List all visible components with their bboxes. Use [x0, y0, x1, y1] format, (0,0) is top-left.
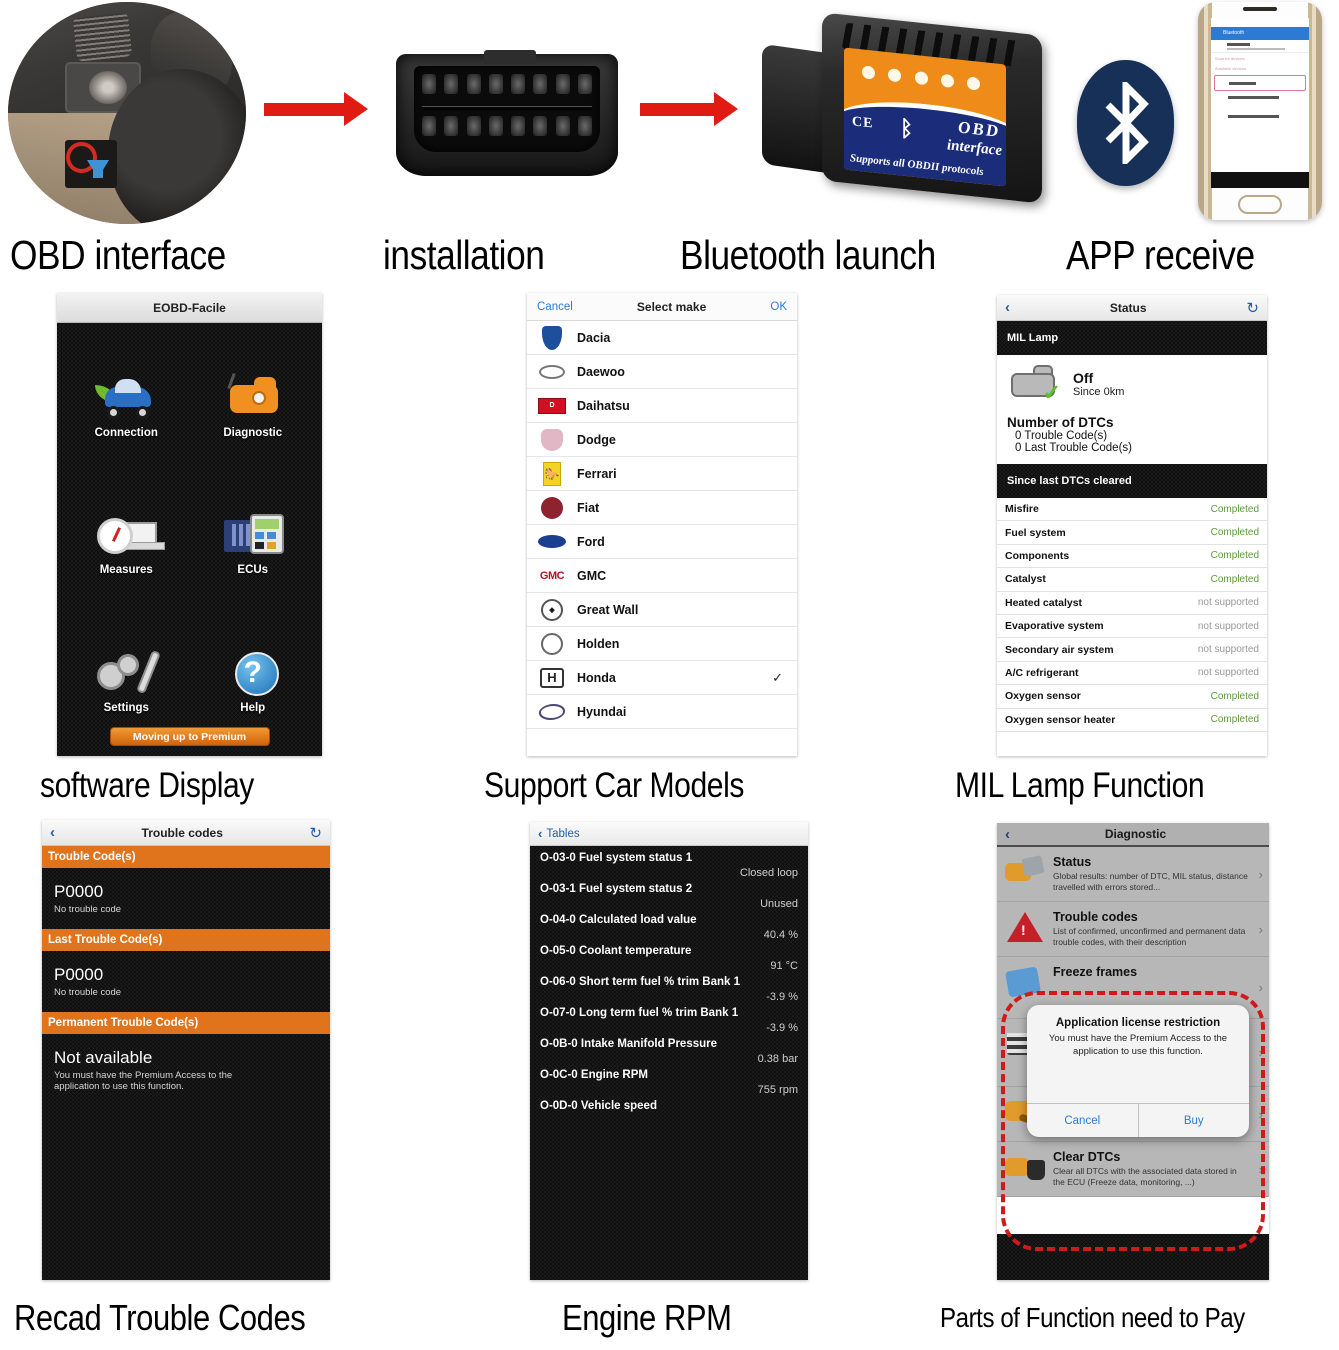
trouble-sub: You must have the Premium Access to the …	[54, 1070, 266, 1092]
back-label[interactable]: Tables	[546, 828, 579, 840]
air-vent	[72, 13, 131, 63]
mil-row: ✓ Off Since 0km	[1007, 363, 1257, 405]
make-name: Dacia	[577, 331, 610, 345]
dodge-logo-icon	[537, 427, 567, 453]
diagnostic-list: StatusGlobal results: number of DTC, MIL…	[997, 847, 1269, 1197]
table-row: Heated catalystnot supported	[997, 592, 1267, 615]
monitor-name: Heated catalyst	[1005, 597, 1082, 609]
pin	[489, 116, 503, 136]
make-name: Honda	[577, 671, 616, 685]
list-item-great-wall[interactable]: ◈Great Wall	[527, 593, 797, 627]
phone-scan-label: Scan for devices	[1211, 53, 1309, 63]
tile-ecus[interactable]: ECUs	[190, 475, 317, 613]
page-title: Select make	[573, 300, 771, 314]
caption-bluetooth-launch: Bluetooth launch	[680, 232, 936, 279]
pin	[467, 116, 481, 136]
gauge-laptop-icon	[95, 510, 157, 560]
pid-value: -3.9 %	[540, 1022, 798, 1034]
pin	[578, 74, 592, 94]
select-make-screenshot: Cancel Select make OK Dacia Daewoo DDaih…	[527, 293, 797, 756]
mil-lamp-block: ✓ Off Since 0km Number of DTCs 0 Trouble…	[997, 355, 1267, 464]
monitor-state: Completed	[1211, 504, 1259, 515]
caption-software-display: software Display	[40, 766, 254, 806]
line	[1228, 115, 1279, 118]
make-name: Great Wall	[577, 603, 638, 617]
led	[862, 65, 875, 79]
arrow-2-icon	[640, 103, 716, 116]
elm327-device-photo: CE ᛒ OBD interface Supports all OBDII pr…	[760, 10, 1048, 200]
line	[1227, 48, 1285, 50]
ford-logo-icon	[537, 529, 567, 555]
list-item-ferrari[interactable]: 🐎Ferrari	[527, 457, 797, 491]
pin	[489, 74, 503, 94]
list-item-ford[interactable]: Ford	[527, 525, 797, 559]
tile-label: Diagnostic	[223, 427, 282, 439]
arrow-1-icon	[264, 103, 346, 116]
tile-diagnostic[interactable]: Diagnostic	[190, 337, 317, 475]
cancel-button[interactable]: Cancel	[537, 301, 573, 313]
bluetooth-logo-icon	[1077, 60, 1174, 186]
monitor-state: Completed	[1211, 691, 1259, 702]
table-row: Oxygen sensor heaterCompleted	[997, 709, 1267, 732]
section-since-cleared: Since last DTCs cleared	[997, 464, 1267, 498]
table-row: O-03-0 Fuel system status 1Closed loop	[540, 852, 798, 879]
tile-label: Settings	[104, 702, 149, 714]
dacia-logo-icon	[537, 325, 567, 351]
table-row: O-05-0 Coolant temperature91 °C	[540, 945, 798, 972]
monitor-state: Completed	[1211, 550, 1259, 561]
monitor-name: Catalyst	[1005, 573, 1046, 585]
pin	[511, 116, 525, 136]
phone-available-label: Available devices	[1211, 63, 1309, 73]
pin	[422, 116, 436, 136]
pin	[422, 74, 436, 94]
caption-recad-trouble-codes: Recad Trouble Codes	[14, 1297, 305, 1339]
line	[1227, 43, 1250, 46]
great-wall-logo-icon: ◈	[537, 597, 567, 623]
status-icon	[1005, 855, 1045, 889]
table-row: CatalystCompleted	[997, 568, 1267, 591]
led	[941, 74, 954, 88]
caption-engine-rpm: Engine RPM	[562, 1297, 732, 1339]
caption-obd-interface: OBD interface	[10, 232, 226, 279]
tables-list: O-03-0 Fuel system status 1Closed loop O…	[530, 846, 808, 1280]
status-screenshot: ‹ Status ↻ MIL Lamp ✓ Off Since 0km Numb…	[997, 295, 1267, 756]
list-item-dodge[interactable]: Dodge	[527, 423, 797, 457]
ce-mark-label: CE	[852, 114, 873, 132]
pid-label: O-0D-0 Vehicle speed	[540, 1100, 798, 1112]
app-title: EOBD-Facile	[57, 293, 322, 323]
trouble-sub: No trouble code	[54, 904, 318, 915]
monitor-name: Components	[1005, 550, 1069, 562]
refresh-icon[interactable]: ↻	[1246, 299, 1259, 317]
list-item-dacia[interactable]: Dacia	[527, 321, 797, 355]
make-name: Holden	[577, 637, 619, 651]
table-row: ComponentsCompleted	[997, 545, 1267, 568]
phone-speaker	[1243, 7, 1277, 11]
diag-item-freeze-frames[interactable]: Freeze frames ›	[997, 957, 1269, 1019]
section-header-last-trouble-codes: Last Trouble Code(s)	[42, 929, 330, 951]
pid-value: 91 °C	[540, 960, 798, 972]
diagnostic-navbar: ‹ Diagnostic	[997, 823, 1269, 847]
phone-device-obd-highlight	[1214, 75, 1306, 91]
fiat-logo-icon	[537, 495, 567, 521]
gear-wrench-icon	[95, 648, 157, 698]
monitor-name: Oxygen sensor heater	[1005, 714, 1115, 726]
daewoo-logo-icon	[537, 359, 567, 385]
led	[915, 71, 928, 85]
table-row: A/C refrigerantnot supported	[997, 662, 1267, 685]
tile-measures[interactable]: Measures	[63, 475, 190, 613]
ecu-calculator-icon	[222, 510, 284, 560]
light-knob	[89, 71, 127, 104]
item-desc: Clear all DTCs with the associated data …	[1053, 1166, 1251, 1188]
page-title: Status	[1010, 301, 1246, 315]
section-header-trouble-codes: Trouble Code(s)	[42, 846, 330, 868]
obd-connector-photo	[388, 40, 626, 190]
trouble-block: Not available You must have the Premium …	[42, 1034, 330, 1106]
monitor-list: MisfireCompleted Fuel systemCompleted Co…	[997, 498, 1267, 732]
monitor-state: not supported	[1198, 667, 1259, 678]
monitor-state: not supported	[1198, 644, 1259, 655]
make-name: Daewoo	[577, 365, 625, 379]
pid-label: O-03-1 Fuel system status 2	[540, 883, 798, 895]
page-title: Trouble codes	[55, 826, 309, 840]
tile-label: Connection	[95, 427, 158, 439]
table-row: O-0C-0 Engine RPM755 rpm	[540, 1069, 798, 1096]
table-row: Oxygen sensorCompleted	[997, 685, 1267, 708]
list-item-daihatsu[interactable]: DDaihatsu	[527, 389, 797, 423]
phone-navbar	[1211, 172, 1309, 188]
tile-label: Measures	[100, 564, 153, 576]
item-title: Systems	[1053, 1095, 1251, 1109]
table-row: O-07-0 Long term fuel % trim Bank 1-3.9 …	[540, 1007, 798, 1034]
phone-device-row	[1214, 115, 1306, 129]
table-row: Evaporative systemnot supported	[997, 615, 1267, 638]
selected-checkmark-icon: ✓	[772, 670, 783, 686]
table-row: Secondary air systemnot supported	[997, 638, 1267, 661]
list-item-hyundai[interactable]: Hyundai	[527, 695, 797, 729]
honda-logo-icon: H	[537, 665, 567, 691]
make-navbar: Cancel Select make OK	[527, 293, 797, 321]
chevron-right-icon: ›	[1259, 980, 1263, 995]
product-infographic: CE ᛒ OBD interface Supports all OBDII pr…	[0, 0, 1339, 1350]
monitor-state: not supported	[1198, 597, 1259, 608]
make-name: Ferrari	[577, 467, 617, 481]
pin	[467, 74, 481, 94]
monitor-name: Secondary air system	[1005, 644, 1114, 656]
table-row: O-0B-0 Intake Manifold Pressure0.38 bar	[540, 1038, 798, 1065]
dtc-heading: Number of DTCs	[1007, 415, 1257, 430]
chevron-right-icon: ›	[1259, 1107, 1263, 1122]
line	[1229, 82, 1256, 85]
pid-label: O-03-0 Fuel system status 1	[540, 852, 798, 864]
chevron-right-icon: ›	[1259, 1162, 1263, 1177]
list-item-daewoo[interactable]: Daewoo	[527, 355, 797, 389]
bluetooth-appbar-title: Bluetooth	[1211, 27, 1309, 36]
monitor-name: Evaporative system	[1005, 620, 1104, 632]
clear-dtc-icon	[1005, 1150, 1045, 1184]
trouble-body: Trouble Code(s) P0000 No trouble code La…	[42, 846, 330, 1280]
trouble-sub: No trouble code	[54, 987, 318, 998]
caption-installation: installation	[383, 232, 544, 279]
tables-navbar: ‹ Tables	[530, 822, 808, 846]
item-desc: List of confirmed, unconfirmed and perma…	[1053, 926, 1251, 948]
smartphone-photo: Bluetooth Scan for devices Available dev…	[1198, 2, 1322, 220]
trouble-block: P0000 No trouble code	[42, 951, 330, 1012]
pid-value: 40.4 %	[540, 929, 798, 941]
bluetooth-appbar: Bluetooth	[1211, 27, 1309, 40]
item-title: Status	[1053, 855, 1251, 869]
caption-app-receive: APP receive	[1066, 232, 1255, 279]
device-label: CE ᛒ OBD interface Supports all OBDII pr…	[844, 47, 1006, 186]
item-title: Trouble codes	[1053, 910, 1251, 924]
list-item-gmc[interactable]: GMCGMC	[527, 559, 797, 593]
make-name: GMC	[577, 569, 606, 583]
caption-parts-of-function: Parts of Function need to Pay	[940, 1302, 1245, 1334]
mil-state: Off	[1073, 370, 1124, 386]
pin	[556, 116, 570, 136]
diag-item-trouble-codes[interactable]: ! Trouble codesList of confirmed, unconf…	[997, 902, 1269, 957]
led-row	[862, 65, 980, 90]
diagnostic-screenshot: ‹ Diagnostic StatusGlobal results: numbe…	[997, 823, 1269, 1280]
item-title: Clear DTCs	[1053, 1150, 1251, 1164]
item-desc: Global results: number of DTC, MIL statu…	[1053, 871, 1251, 893]
pin	[533, 116, 547, 136]
obd-port-photo	[8, 2, 246, 224]
connector-tab	[484, 50, 536, 64]
trouble-block: P0000 No trouble code	[42, 868, 330, 929]
trouble-code: P0000	[54, 965, 318, 985]
freeze-frame-icon	[1005, 965, 1045, 999]
pid-value: 0.38 bar	[540, 1053, 798, 1065]
gmc-logo-icon: GMC	[537, 563, 567, 589]
pin	[444, 74, 458, 94]
diag-item-measures[interactable]: ›	[997, 1019, 1269, 1087]
trouble-code: P0000	[54, 882, 318, 902]
car-icon	[95, 373, 157, 423]
monitor-state: Completed	[1211, 527, 1259, 538]
phone-row-device-name	[1211, 40, 1309, 53]
monitor-name: Fuel system	[1005, 527, 1066, 539]
pid-value: 755 rpm	[540, 1084, 798, 1096]
systems-icon	[1005, 1095, 1045, 1129]
engine-lamp-icon: ✓	[1007, 363, 1063, 405]
premium-button[interactable]: Moving up to Premium	[110, 727, 270, 746]
table-row: O-06-0 Short term fuel % trim Bank 1-3.9…	[540, 976, 798, 1003]
list-item-honda[interactable]: HHonda✓	[527, 661, 797, 695]
trouble-code: Not available	[54, 1048, 318, 1068]
holden-logo-icon	[537, 631, 567, 657]
make-name: Fiat	[577, 501, 599, 515]
monitor-state: Completed	[1211, 574, 1259, 585]
phone-home-button	[1238, 195, 1282, 214]
warning-triangle-icon: !	[1005, 910, 1045, 944]
hyundai-logo-icon	[537, 699, 567, 725]
refresh-icon[interactable]: ↻	[309, 824, 322, 842]
blue-arrow-icon	[87, 160, 109, 178]
tile-label: ECUs	[237, 564, 268, 576]
list-item-holden[interactable]: Holden	[527, 627, 797, 661]
status-navbar: ‹ Status ↻	[997, 295, 1267, 321]
trouble-navbar: ‹ Trouble codes ↻	[42, 820, 330, 846]
pid-value: -3.9 %	[540, 991, 798, 1003]
pin	[444, 116, 458, 136]
pid-label: O-04-0 Calculated load value	[540, 914, 798, 926]
list-item-fiat[interactable]: Fiat	[527, 491, 797, 525]
pin	[511, 74, 525, 94]
dtc-line-1: 0 Trouble Code(s)	[1015, 430, 1257, 442]
monitor-state: Completed	[1211, 714, 1259, 725]
section-mil-lamp: MIL Lamp	[997, 321, 1267, 355]
table-row: O-04-0 Calculated load value40.4 %	[540, 914, 798, 941]
monitor-name: A/C refrigerant	[1005, 667, 1079, 679]
chevron-right-icon: ›	[1259, 1045, 1263, 1060]
mil-text: Off Since 0km	[1073, 370, 1124, 398]
mil-since: Since 0km	[1073, 386, 1124, 398]
item-desc: Results of monitored system fitted on th…	[1053, 1111, 1251, 1133]
monitor-state: not supported	[1198, 621, 1259, 632]
back-icon[interactable]: ‹	[538, 826, 542, 841]
pid-value: Unused	[540, 898, 798, 910]
caption-support-car-models: Support Car Models	[484, 766, 744, 806]
table-row: O-0D-0 Vehicle speed	[540, 1100, 798, 1112]
table-row: O-03-1 Fuel system status 2Unused	[540, 883, 798, 910]
dtc-count-block: Number of DTCs 0 Trouble Code(s) 0 Last …	[1007, 415, 1257, 454]
make-name: Dodge	[577, 433, 616, 447]
ferrari-logo-icon: 🐎	[537, 461, 567, 487]
pin	[578, 116, 592, 136]
item-title: Freeze frames	[1053, 965, 1251, 979]
make-name: Daihatsu	[577, 399, 630, 413]
software-display-screenshot: EOBD-Facile Connection Diagnostic Measur…	[57, 293, 322, 756]
pin	[533, 74, 547, 94]
section-header-permanent-trouble-codes: Permanent Trouble Code(s)	[42, 1012, 330, 1034]
app-home-grid: Connection Diagnostic Measures	[57, 323, 322, 756]
pid-label: O-06-0 Short term fuel % trim Bank 1	[540, 976, 798, 988]
led	[967, 76, 980, 90]
pid-label: O-0B-0 Intake Manifold Pressure	[540, 1038, 798, 1050]
diagnostic-bottom-area	[997, 1234, 1269, 1280]
question-icon: ?	[222, 648, 284, 698]
led	[888, 68, 901, 82]
line	[1228, 96, 1279, 99]
make-list[interactable]: Dacia Daewoo DDaihatsu Dodge 🐎Ferrari Fi…	[527, 321, 797, 756]
pid-label: O-07-0 Long term fuel % trim Bank 1	[540, 1007, 798, 1019]
trouble-codes-screenshot: ‹ Trouble codes ↻ Trouble Code(s) P0000 …	[42, 820, 330, 1280]
phone-screen: Bluetooth Scan for devices Available dev…	[1211, 18, 1309, 188]
pid-label: O-0C-0 Engine RPM	[540, 1069, 798, 1081]
make-name: Ford	[577, 535, 605, 549]
page-title: Diagnostic	[1010, 827, 1261, 841]
table-row: Fuel systemCompleted	[997, 521, 1267, 544]
pid-value: Closed loop	[540, 867, 798, 879]
tables-screenshot: ‹ Tables O-03-0 Fuel system status 1Clos…	[530, 822, 808, 1280]
diag-item-clear-dtcs[interactable]: Clear DTCsClear all DTCs with the associ…	[997, 1142, 1269, 1197]
phone-device-row	[1214, 96, 1306, 110]
monitor-name: Oxygen sensor	[1005, 690, 1081, 702]
daihatsu-logo-icon: D	[537, 393, 567, 419]
pin-row-bottom	[422, 116, 592, 142]
pin-row-top	[422, 74, 592, 100]
tile-label: Help	[240, 702, 265, 714]
dtc-line-2: 0 Last Trouble Code(s)	[1015, 442, 1257, 454]
measures-icon	[1005, 1027, 1045, 1061]
ok-button[interactable]: OK	[770, 301, 787, 313]
table-row: MisfireCompleted	[997, 498, 1267, 521]
make-name: Hyundai	[577, 705, 626, 719]
tile-connection[interactable]: Connection	[63, 337, 190, 475]
bluetooth-mark-icon: ᛒ	[900, 115, 913, 142]
phone-statusbar	[1211, 18, 1309, 27]
diag-item-status[interactable]: StatusGlobal results: number of DTC, MIL…	[997, 847, 1269, 902]
chevron-right-icon: ›	[1259, 867, 1263, 882]
connector-divider	[422, 106, 592, 111]
chevron-right-icon: ›	[1259, 922, 1263, 937]
pid-label: O-05-0 Coolant temperature	[540, 945, 798, 957]
monitor-name: Misfire	[1005, 503, 1039, 515]
engine-icon	[222, 373, 284, 423]
caption-mil-lamp-function: MIL Lamp Function	[955, 766, 1204, 806]
diag-item-systems[interactable]: SystemsResults of monitored system fitte…	[997, 1087, 1269, 1142]
pin	[556, 74, 570, 94]
